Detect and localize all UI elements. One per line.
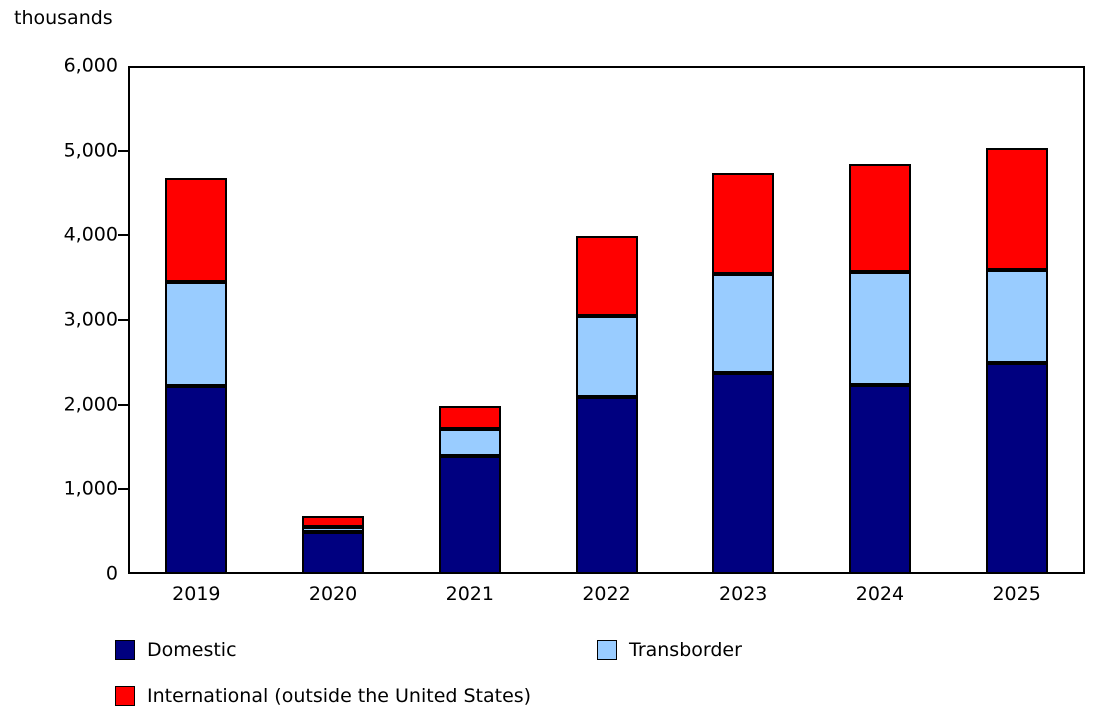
legend-item: Transborder	[597, 640, 742, 660]
y-axis-tick-label: 6,000	[8, 57, 118, 76]
x-axis-tick-label: 2024	[856, 583, 904, 605]
bar-group	[302, 66, 364, 574]
legend-label: Domestic	[147, 640, 237, 660]
bar-segment	[712, 373, 774, 574]
y-axis-tick-label: 5,000	[8, 141, 118, 160]
bar-segment	[165, 386, 227, 574]
y-axis-tick-label: 0	[8, 565, 118, 584]
y-axis-tick-label: 2,000	[8, 395, 118, 414]
bar-segment	[712, 274, 774, 373]
x-axis: 2019202020212022202320242025	[128, 583, 1085, 613]
bar-segment	[302, 516, 364, 527]
legend-item: Domestic	[115, 640, 237, 660]
bar-segment	[302, 532, 364, 574]
bar-group	[576, 66, 638, 574]
y-axis-tick-label: 3,000	[8, 311, 118, 330]
x-axis-tick-label: 2022	[582, 583, 630, 605]
bar-segment	[576, 397, 638, 574]
bar-segment	[439, 429, 501, 456]
bar-segment	[986, 363, 1048, 574]
legend-swatch-icon	[115, 686, 135, 706]
bar-segment	[576, 316, 638, 397]
x-axis-tick-label: 2025	[992, 583, 1040, 605]
y-axis: 01,0002,0003,0004,0005,0006,000	[0, 0, 118, 717]
bar-segment	[986, 270, 1048, 363]
x-axis-tick-label: 2023	[719, 583, 767, 605]
bar-segment	[712, 173, 774, 274]
bar-segment	[986, 148, 1048, 270]
bar-segment	[849, 272, 911, 385]
bar-group	[849, 66, 911, 574]
bars-layer	[128, 66, 1085, 574]
legend-label: Transborder	[629, 640, 742, 660]
bar-segment	[439, 456, 501, 574]
bar-segment	[849, 385, 911, 574]
bar-segment	[439, 406, 501, 429]
y-axis-tick-label: 1,000	[8, 480, 118, 499]
x-axis-tick-label: 2021	[446, 583, 494, 605]
x-axis-tick-label: 2019	[172, 583, 220, 605]
bar-segment	[165, 178, 227, 282]
bar-group	[986, 66, 1048, 574]
bar-segment	[165, 282, 227, 386]
bar-segment	[302, 527, 364, 532]
legend-swatch-icon	[597, 640, 617, 660]
bar-group	[712, 66, 774, 574]
x-axis-tick-label: 2020	[309, 583, 357, 605]
bar-group	[439, 66, 501, 574]
y-axis-tick-label: 4,000	[8, 226, 118, 245]
legend-swatch-icon	[115, 640, 135, 660]
bar-segment	[849, 164, 911, 272]
chart-legend: DomesticTransborderInternational (outsid…	[0, 628, 1115, 718]
bar-group	[165, 66, 227, 574]
legend-item: International (outside the United States…	[115, 686, 531, 706]
stacked-bar-chart: thousands 01,0002,0003,0004,0005,0006,00…	[0, 0, 1115, 717]
bar-segment	[576, 236, 638, 316]
legend-label: International (outside the United States…	[147, 686, 531, 706]
